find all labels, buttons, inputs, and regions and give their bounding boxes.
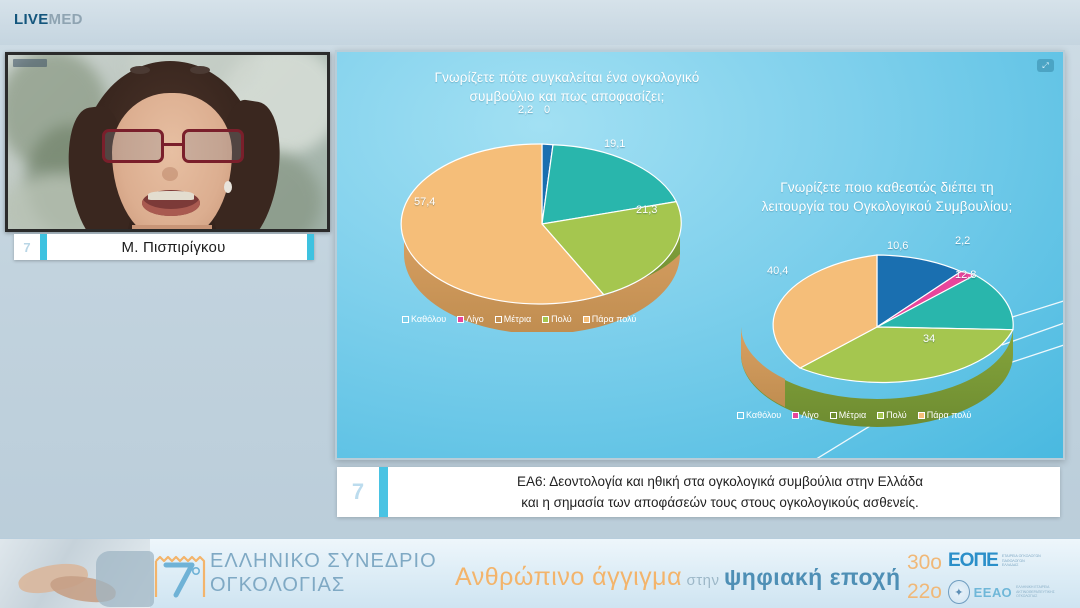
glasses-bridge — [164, 143, 184, 146]
conference-tagline: Ανθρώπινο άγγιγμα στην ψηφιακή εποχή — [455, 563, 901, 592]
legend-item-katholou[interactable]: Καθόλου — [402, 314, 446, 324]
speaker-glasses — [102, 129, 244, 163]
conference-banner: ΕΛΛΗΝΙΚΟ ΣΥΝΕΔΡΙΟ ΟΓΚΟΛΟΓΙΑΣ Ανθρώπινο ά… — [0, 538, 1080, 608]
legend-label-katholou: Καθόλου — [411, 314, 446, 324]
livemed-logo: LIVEMED — [14, 11, 83, 28]
legend-swatch-para-poly — [583, 316, 590, 323]
recording-badge-icon — [13, 59, 47, 67]
legend-swatch-poly — [542, 316, 549, 323]
chart-1-label-katholou: 2,2 — [518, 104, 533, 116]
caption-line1: ΕΑ6: Δεοντολογία και ηθική στα ογκολογικ… — [392, 471, 1048, 492]
legend2-item-para-poly[interactable]: Πάρα πολύ — [918, 410, 972, 420]
session-caption-bar: 7 ΕΑ6: Δεοντολογία και ηθική στα ογκολογ… — [337, 467, 1060, 517]
chart-1-title-line1: Γνωρίζετε πότε συγκαλείται ένα ογκολογικ… — [377, 68, 757, 87]
conference-title-line1: ΕΛΛΗΝΙΚΟ ΣΥΝΕΔΡΙΟ — [210, 549, 437, 573]
eeao-logo: ✦ ΕΕΑΟ ΕΛΛΗΝΙΚΗ ΕΤΑΙΡΕΙΑ ΑΚΤΙΝΟΘΕΡΑΠΕΥΤΙ… — [948, 579, 1066, 605]
legend2-swatch-poly — [877, 412, 884, 419]
legend-swatch-metria — [495, 316, 502, 323]
nameplate-accent-bar-right — [307, 234, 314, 260]
speaker-nose — [162, 167, 178, 181]
glasses-lens-left — [102, 129, 164, 163]
legend-item-para-poly[interactable]: Πάρα πολύ — [583, 314, 637, 324]
chart-1-title-line2: συμβούλιο και πως αποφασίζει; — [377, 87, 757, 106]
speaker-nameplate: 7 Μ. Πισπιρίγκου — [14, 234, 314, 260]
speaker-name: Μ. Πισπιρίγκου — [47, 239, 307, 256]
legend-label-metria: Μέτρια — [504, 314, 531, 324]
brand-live: LIVE — [14, 11, 49, 28]
screen-root: LIVEMED — [0, 0, 1080, 608]
speaker-earring — [224, 181, 232, 193]
speaker-teeth — [148, 191, 194, 200]
chart-1-label-para-poly: 57,4 — [414, 196, 435, 208]
chart-2-pie: 10,6 2,2 12,8 34 40,4 — [727, 227, 1027, 427]
chart-2-label-katholou: 10,6 — [887, 240, 908, 252]
eeao-label: ΕΕΑΟ — [974, 585, 1013, 600]
chart-2-label-ligo: 2,2 — [955, 235, 970, 247]
top-bar: LIVEMED — [0, 0, 1080, 45]
conference-logo-icon — [152, 547, 208, 601]
nameplate-logo-icon: 7 — [14, 234, 40, 260]
legend-swatch-ligo — [457, 316, 464, 323]
legend2-item-katholou[interactable]: Καθόλου — [737, 410, 781, 420]
conference-title: ΕΛΛΗΝΙΚΟ ΣΥΝΕΔΡΙΟ ΟΓΚΟΛΟΓΙΑΣ — [210, 549, 437, 597]
legend2-label-ligo: Λίγο — [801, 410, 819, 420]
chart-2-label-metria: 12,8 — [955, 269, 976, 281]
chart-1-label-poly: 21,3 — [636, 204, 657, 216]
eeao-subtitle: ΕΛΛΗΝΙΚΗ ΕΤΑΙΡΕΙΑ ΑΚΤΙΝΟΘΕΡΑΠΕΥΤΙΚΗΣ ΟΓΚ… — [1016, 585, 1066, 598]
eope-edition-number: 30ο — [907, 551, 942, 575]
eope-logo: ΕΟΠΕ ΕΤΑΙΡΕΙΑ ΟΓΚΟΛΟΓΩΝ ΠΑΘΟΛΟΓΩΝ ΕΛΛΑΔΑ… — [948, 549, 1066, 573]
eeao-edition-number: 22ο — [907, 580, 942, 604]
caption-logo-icon: 7 — [337, 467, 379, 517]
banner-photo — [0, 539, 150, 608]
legend-item-poly[interactable]: Πολύ — [542, 314, 572, 324]
legend2-item-poly[interactable]: Πολύ — [877, 410, 907, 420]
tagline-part1: Ανθρώπινο άγγιγμα — [455, 563, 682, 591]
chart-2-title: Γνωρίζετε ποιο καθεστώς διέπει τη λειτου… — [727, 178, 1047, 216]
speaker-eye-right — [190, 66, 210, 74]
legend2-label-metria: Μέτρια — [839, 410, 866, 420]
chart-1-title: Γνωρίζετε πότε συγκαλείται ένα ογκολογικ… — [377, 68, 757, 106]
brand-med: MED — [49, 11, 83, 28]
chart-2-label-poly: 34 — [923, 333, 935, 345]
speaker-eye-left — [130, 66, 150, 74]
chart-1-svg — [392, 112, 692, 332]
chart-2-title-line1: Γνωρίζετε ποιο καθεστώς διέπει τη — [727, 178, 1047, 197]
chart-1-legend: Καθόλου Λίγο Μέτρια Πολύ Πάρα πολύ — [402, 314, 636, 324]
chart-2-svg — [727, 227, 1027, 427]
legend2-label-katholou: Καθόλου — [746, 410, 781, 420]
chart-1-pie: 2,2 0 19,1 21,3 57,4 — [392, 112, 692, 332]
legend2-swatch-ligo — [792, 412, 799, 419]
caption-text: ΕΑ6: Δεοντολογία και ηθική στα ογκολογικ… — [388, 471, 1060, 513]
banner-sleeve — [96, 551, 154, 607]
presentation-slide[interactable]: ⤢ Γνωρίζετε πότε συγκαλείται ένα ογκολογ… — [335, 50, 1065, 460]
legend-swatch-katholou — [402, 316, 409, 323]
legend2-item-ligo[interactable]: Λίγο — [792, 410, 819, 420]
legend2-swatch-katholou — [737, 412, 744, 419]
legend2-label-para-poly: Πάρα πολύ — [927, 410, 972, 420]
legend-label-poly: Πολύ — [551, 314, 572, 324]
caption-accent-bar — [379, 467, 388, 517]
conference-title-line2: ΟΓΚΟΛΟΓΙΑΣ — [210, 573, 437, 597]
legend2-item-metria[interactable]: Μέτρια — [830, 410, 866, 420]
crab-seal-icon: ✦ — [948, 580, 970, 604]
speaker-video-panel[interactable] — [5, 52, 330, 232]
eope-subtitle: ΕΤΑΙΡΕΙΑ ΟΓΚΟΛΟΓΩΝ ΠΑΘΟΛΟΓΩΝ ΕΛΛΑΔΑΣ — [1002, 554, 1042, 568]
legend2-swatch-metria — [830, 412, 837, 419]
nameplate-accent-bar — [40, 234, 47, 260]
chart-1-label-ligo: 0 — [544, 104, 550, 116]
legend2-label-poly: Πολύ — [886, 410, 907, 420]
legend-item-metria[interactable]: Μέτρια — [495, 314, 531, 324]
tagline-part2: στην — [686, 572, 719, 589]
legend-item-ligo[interactable]: Λίγο — [457, 314, 484, 324]
legend-label-ligo: Λίγο — [466, 314, 484, 324]
speaker-video-feed[interactable] — [8, 55, 327, 229]
legend-label-para-poly: Πάρα πολύ — [592, 314, 637, 324]
chart-1-label-metria: 19,1 — [604, 138, 625, 150]
chart-2-legend: Καθόλου Λίγο Μέτρια Πολύ Πάρα πολύ — [737, 410, 971, 420]
glasses-lens-right — [182, 129, 244, 163]
tagline-part3: ψηφιακή εποχή — [724, 564, 901, 590]
chart-2-title-line2: λειτουργία του Ογκολογικού Συμβουλίου; — [727, 197, 1047, 216]
caption-line2: και η σημασία των αποφάσεών τους στους ο… — [392, 492, 1048, 513]
chart-2-label-para-poly: 40,4 — [767, 265, 788, 277]
speaker-neck — [132, 225, 212, 229]
legend2-swatch-para-poly — [918, 412, 925, 419]
expand-icon[interactable]: ⤢ — [1037, 59, 1054, 72]
eope-label: ΕΟΠΕ — [948, 550, 998, 572]
